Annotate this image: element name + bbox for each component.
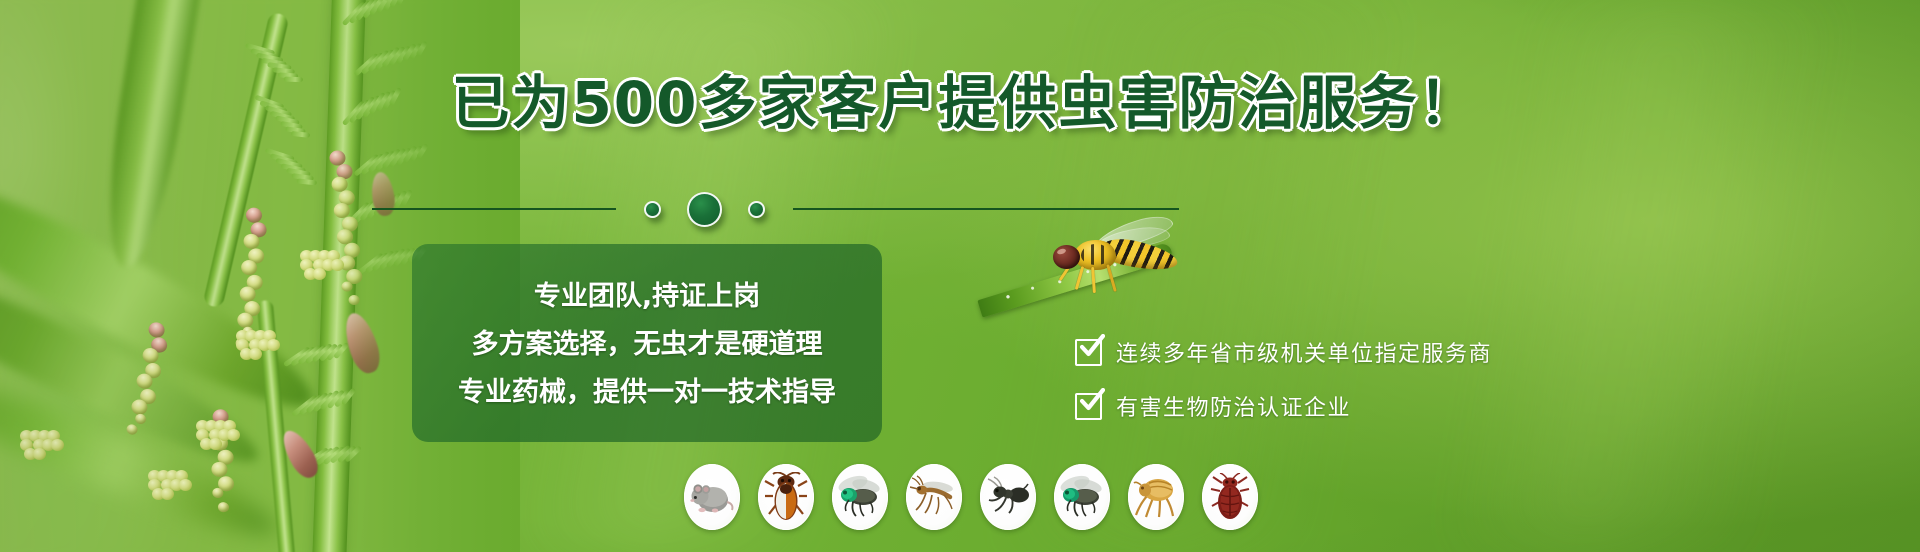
checklist-item: 连续多年省市级机关单位指定服务商 (1075, 336, 1492, 368)
divider-line-left (372, 208, 616, 210)
fly-head (1053, 245, 1080, 269)
divider-dot-large (687, 192, 722, 227)
checklist-item-label: 有害生物防治认证企业 (1116, 390, 1351, 422)
promo-line-2: 多方案选择，无虫才是硬道理 (472, 322, 823, 361)
hoverfly-icon (1048, 234, 1178, 292)
ant-icon[interactable]: 蚂蚁 (980, 464, 1036, 530)
pest-icon-row: 鼠 蟑螂 (684, 464, 1258, 530)
banner-headline: 已为500多家客户提供虫害防治服务！ (0, 74, 1920, 132)
hero-banner: 已为500多家客户提供虫害防治服务！ 专业团队,持证上岗 多方案选择，无虫才是硬… (0, 0, 1920, 552)
credentials-checklist: 连续多年省市级机关单位指定服务商 有害生物防治认证企业 (1075, 336, 1492, 422)
flea-icon[interactable]: 跳蚤 (1128, 464, 1184, 530)
mouse-icon[interactable]: 鼠 (684, 464, 740, 530)
fly-leg (1075, 266, 1084, 290)
promo-panel: 专业团队,持证上岗 多方案选择，无虫才是硬道理 专业药械，提供一对一技术指导 (412, 244, 882, 442)
fly-leg (1106, 264, 1117, 292)
hoverfly-illustration (1000, 222, 1220, 352)
promo-line-1: 专业团队,持证上岗 (534, 274, 760, 313)
divider-line-right (793, 208, 1179, 210)
banner-headline-text: 已为500多家客户提供虫害防治服务！ (451, 69, 1478, 137)
cockroach-icon[interactable]: 蟑螂 (758, 464, 814, 530)
divider-dot-small-left (644, 201, 661, 218)
checkbox-check-icon (1075, 339, 1102, 366)
checklist-item: 有害生物防治认证企业 (1075, 390, 1492, 422)
divider-dot-small-right (748, 201, 765, 218)
promo-line-3: 专业药械，提供一对一技术指导 (458, 370, 836, 409)
fly-icon[interactable]: 苍蝇 (832, 464, 888, 530)
mosquito-icon[interactable]: 蚊 (906, 464, 962, 530)
fly-leg (1091, 267, 1096, 293)
checklist-item-label: 连续多年省市级机关单位指定服务商 (1116, 336, 1492, 368)
bedbug-icon[interactable]: 臭虫 (1202, 464, 1258, 530)
blowfly-icon[interactable]: 绿头苍蝇 (1054, 464, 1110, 530)
decorative-divider (372, 208, 1580, 210)
divider-dots (616, 192, 793, 227)
checkbox-check-icon (1075, 393, 1102, 420)
